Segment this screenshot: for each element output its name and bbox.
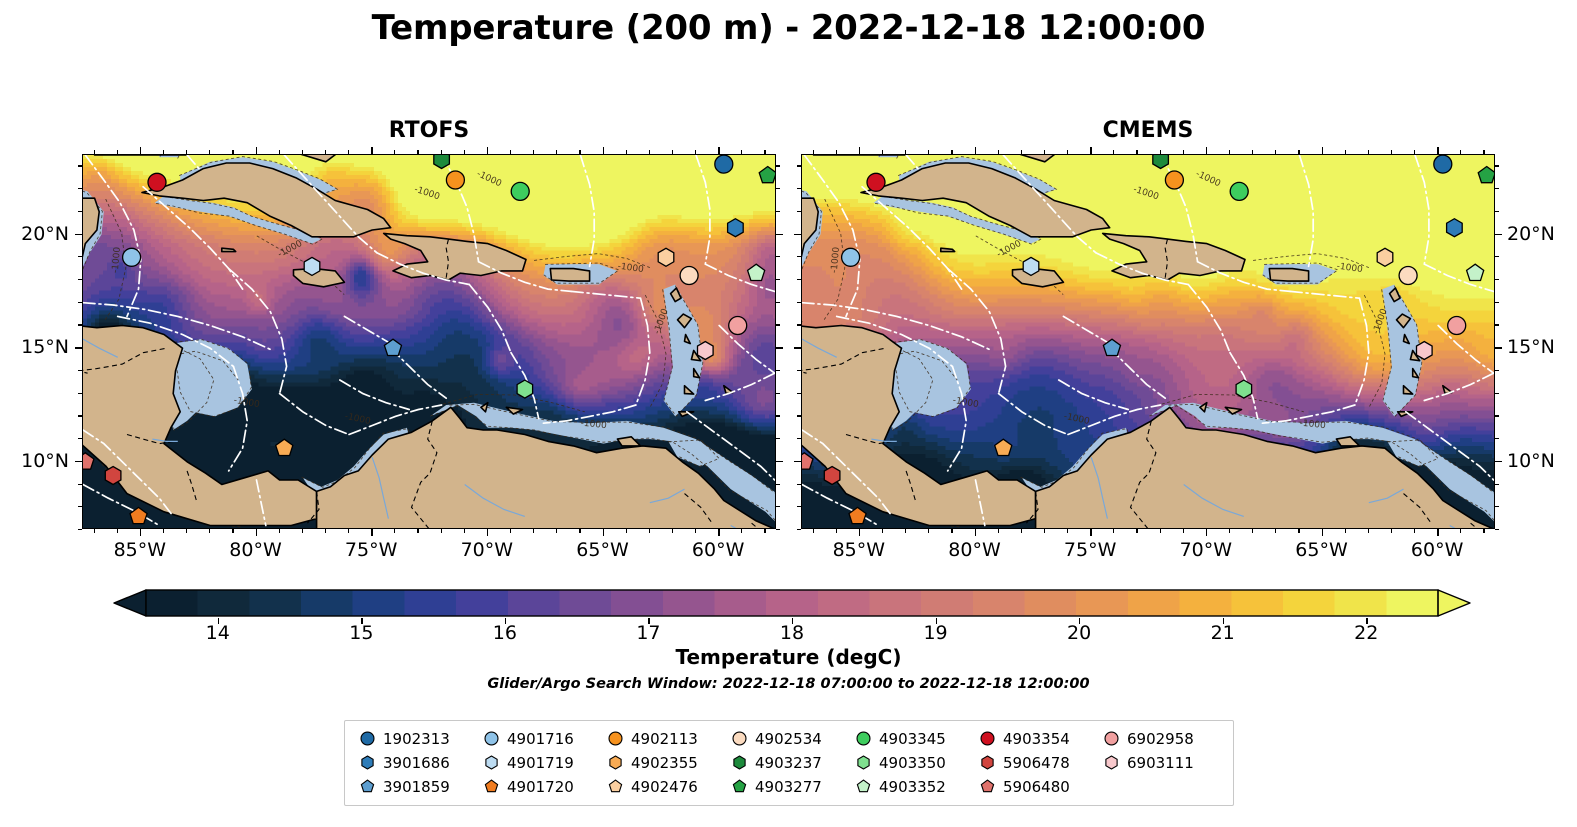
legend-label: 4901720 <box>507 778 574 796</box>
x-major-tick <box>1322 529 1324 536</box>
x-minor-tick <box>1229 150 1230 154</box>
x-minor-tick <box>1275 150 1276 154</box>
y-tick-label: 20°N <box>0 223 69 245</box>
y-minor-tick <box>78 211 82 212</box>
x-tick-label: 70°W <box>461 539 513 561</box>
circle-marker-icon <box>483 730 500 747</box>
x-minor-tick <box>1160 529 1161 533</box>
x-minor-tick <box>672 529 673 533</box>
y-minor-tick <box>797 279 801 280</box>
float-marker <box>1447 219 1463 237</box>
colorbar-tick-label: 14 <box>206 622 230 644</box>
map-frame-rtofs[interactable]: -1000-1000-1000-1000-1000-1000-1000-1000… <box>82 154 776 529</box>
y-minor-tick <box>797 302 801 303</box>
x-minor-tick <box>764 529 765 533</box>
y-tick-label: 15°N <box>1507 336 1577 358</box>
legend-item[interactable]: 4903277 <box>727 776 851 797</box>
x-minor-tick <box>279 529 280 533</box>
float-marker <box>715 155 733 173</box>
circle-marker-icon <box>607 730 624 747</box>
legend-label: 4903350 <box>879 754 946 772</box>
x-minor-tick <box>813 150 814 154</box>
x-major-tick <box>718 147 720 154</box>
x-minor-tick <box>94 529 95 533</box>
float-marker <box>1230 182 1248 200</box>
legend-item[interactable]: 3901859 <box>355 776 479 797</box>
y-minor-tick <box>1495 188 1499 189</box>
map-render-rtofs: -1000-1000-1000-1000-1000-1000-1000-1000… <box>83 155 776 529</box>
legend-item[interactable]: 6903111 <box>1099 752 1223 773</box>
x-minor-tick <box>836 150 837 154</box>
x-major-tick <box>256 529 258 536</box>
x-tick-label: 80°W <box>229 539 281 561</box>
x-tick-label: 60°W <box>692 539 744 561</box>
y-minor-tick <box>776 529 780 530</box>
x-major-tick <box>859 147 861 154</box>
y-minor-tick <box>1495 324 1499 325</box>
y-minor-tick <box>797 415 801 416</box>
x-minor-tick <box>1067 529 1068 533</box>
x-minor-tick <box>417 150 418 154</box>
y-minor-tick <box>797 529 801 530</box>
x-minor-tick <box>348 529 349 533</box>
legend-label: 4901719 <box>507 754 574 772</box>
y-minor-tick <box>797 484 801 485</box>
y-minor-tick <box>1495 415 1499 416</box>
x-minor-tick <box>813 529 814 533</box>
colorbar-tick-label: 21 <box>1211 622 1235 644</box>
legend-item[interactable]: 4902534 <box>727 728 851 749</box>
x-minor-tick <box>928 529 929 533</box>
y-minor-tick <box>776 256 780 257</box>
colorbar-tick-label: 20 <box>1067 622 1091 644</box>
x-minor-tick <box>1391 529 1392 533</box>
float-legend: 1902313390168639018594901716490171949017… <box>344 720 1234 806</box>
x-tick-label: 85°W <box>833 539 885 561</box>
x-minor-tick <box>325 529 326 533</box>
x-tick-label: 70°W <box>1180 539 1232 561</box>
y-minor-tick <box>78 393 82 394</box>
legend-item[interactable]: 4903345 <box>851 728 975 749</box>
float-marker <box>1399 267 1417 285</box>
legend-label: 4903352 <box>879 778 946 796</box>
y-minor-tick <box>1495 484 1499 485</box>
x-minor-tick <box>1368 150 1369 154</box>
colorbar[interactable] <box>112 588 1472 618</box>
legend-label: 4903354 <box>1003 730 1070 748</box>
circle-marker-icon <box>855 730 872 747</box>
circle-marker-icon <box>731 730 748 747</box>
float-marker <box>698 342 714 360</box>
x-minor-tick <box>579 150 580 154</box>
y-minor-tick <box>78 256 82 257</box>
x-major-tick <box>487 529 489 536</box>
x-minor-tick <box>626 529 627 533</box>
x-minor-tick <box>302 150 303 154</box>
x-major-tick <box>140 529 142 536</box>
float-marker <box>729 317 747 335</box>
x-minor-tick <box>649 150 650 154</box>
x-major-tick <box>1090 147 1092 154</box>
hexagon-marker-icon <box>1103 754 1120 771</box>
x-major-tick <box>1206 147 1208 154</box>
y-minor-tick <box>797 324 801 325</box>
legend-label: 4902534 <box>755 730 822 748</box>
x-minor-tick <box>302 529 303 533</box>
y-major-tick <box>1495 347 1502 349</box>
y-minor-tick <box>1495 393 1499 394</box>
y-minor-tick <box>1495 165 1499 166</box>
x-minor-tick <box>672 150 673 154</box>
x-minor-tick <box>117 150 118 154</box>
x-minor-tick <box>951 529 952 533</box>
x-minor-tick <box>1483 529 1484 533</box>
y-minor-tick <box>776 484 780 485</box>
legend-item[interactable]: 5906480 <box>975 776 1099 797</box>
x-minor-tick <box>1183 150 1184 154</box>
y-major-tick <box>75 347 82 349</box>
x-tick-label: 75°W <box>345 539 397 561</box>
float-marker <box>824 467 840 485</box>
legend-label: 6902958 <box>1127 730 1194 748</box>
x-minor-tick <box>348 150 349 154</box>
x-minor-tick <box>695 150 696 154</box>
y-tick-label: 10°N <box>1507 450 1577 472</box>
x-minor-tick <box>510 150 511 154</box>
legend-item[interactable]: 4901716 <box>479 728 603 749</box>
x-minor-tick <box>951 150 952 154</box>
x-major-tick <box>975 147 977 154</box>
x-minor-tick <box>1483 150 1484 154</box>
x-minor-tick <box>764 150 765 154</box>
y-major-tick <box>794 461 801 463</box>
x-minor-tick <box>441 150 442 154</box>
y-minor-tick <box>797 211 801 212</box>
legend-item[interactable]: 4903350 <box>851 752 975 773</box>
float-marker <box>517 380 533 398</box>
x-major-tick <box>1322 147 1324 154</box>
figure-canvas: Temperature (200 m) - 2022-12-18 12:00:0… <box>0 0 1577 827</box>
x-minor-tick <box>1368 529 1369 533</box>
y-minor-tick <box>797 393 801 394</box>
panel-title-cmems: CMEMS <box>801 118 1495 143</box>
y-minor-tick <box>776 324 780 325</box>
map-panel-cmems: CMEMS -1000-1000-1000-1000-1000-1000-100… <box>801 154 1495 529</box>
x-minor-tick <box>1113 529 1114 533</box>
map-frame-cmems[interactable]: -1000-1000-1000-1000-1000-1000-1000-1000… <box>801 154 1495 529</box>
y-major-tick <box>75 461 82 463</box>
legend-item[interactable]: 4903237 <box>727 752 851 773</box>
float-marker <box>658 248 674 266</box>
colorbar-tick-label: 16 <box>493 622 517 644</box>
hexagon-marker-icon <box>855 754 872 771</box>
x-minor-tick <box>1414 150 1415 154</box>
x-minor-tick <box>998 150 999 154</box>
y-minor-tick <box>776 188 780 189</box>
legend-label: 4903345 <box>879 730 946 748</box>
y-major-tick <box>75 234 82 236</box>
x-minor-tick <box>695 529 696 533</box>
y-minor-tick <box>797 188 801 189</box>
circle-marker-icon <box>359 730 376 747</box>
legend-item[interactable]: 4902113 <box>603 728 727 749</box>
x-major-tick <box>975 529 977 536</box>
x-minor-tick <box>464 150 465 154</box>
x-major-tick <box>603 147 605 154</box>
x-minor-tick <box>1252 150 1253 154</box>
y-minor-tick <box>776 415 780 416</box>
x-minor-tick <box>394 529 395 533</box>
x-minor-tick <box>905 150 906 154</box>
y-minor-tick <box>78 529 82 530</box>
map-panel-rtofs: RTOFS -1000-1000-1000-1000-1000-1000-100… <box>82 154 776 529</box>
x-minor-tick <box>649 529 650 533</box>
legend-label: 4903237 <box>755 754 822 772</box>
x-major-tick <box>256 147 258 154</box>
legend-label: 6903111 <box>1127 754 1194 772</box>
float-marker <box>123 248 141 266</box>
x-major-tick <box>1437 147 1439 154</box>
x-minor-tick <box>1345 529 1346 533</box>
x-minor-tick <box>186 150 187 154</box>
x-minor-tick <box>556 529 557 533</box>
hexagon-marker-icon <box>731 754 748 771</box>
y-minor-tick <box>776 211 780 212</box>
colorbar-tick-label: 22 <box>1354 622 1378 644</box>
legend-label: 5906478 <box>1003 754 1070 772</box>
x-minor-tick <box>1298 150 1299 154</box>
legend-label: 3901686 <box>383 754 450 772</box>
y-minor-tick <box>1495 438 1499 439</box>
y-minor-tick <box>797 165 801 166</box>
legend-label: 4902355 <box>631 754 698 772</box>
x-major-tick <box>1090 529 1092 536</box>
y-minor-tick <box>797 506 801 507</box>
y-minor-tick <box>776 302 780 303</box>
float-marker <box>304 257 320 275</box>
y-major-tick <box>794 347 801 349</box>
legend-item[interactable]: 4901719 <box>479 752 603 773</box>
legend-label: 4903277 <box>755 778 822 796</box>
y-minor-tick <box>1495 302 1499 303</box>
colorbar-label: Temperature (degC) <box>0 645 1577 669</box>
y-tick-label: 20°N <box>1507 223 1577 245</box>
x-tick-label: 75°W <box>1064 539 1116 561</box>
y-minor-tick <box>78 370 82 371</box>
circle-marker-icon <box>1103 730 1120 747</box>
x-minor-tick <box>1067 150 1068 154</box>
y-minor-tick <box>78 506 82 507</box>
y-tick-label: 10°N <box>0 450 69 472</box>
x-minor-tick <box>94 150 95 154</box>
legend-item[interactable]: 4903354 <box>975 728 1099 749</box>
x-minor-tick <box>1345 150 1346 154</box>
float-marker <box>1165 171 1183 189</box>
x-major-tick <box>1206 529 1208 536</box>
legend-label: 4902113 <box>631 730 698 748</box>
y-minor-tick <box>1495 529 1499 530</box>
y-major-tick <box>776 461 783 463</box>
y-minor-tick <box>78 484 82 485</box>
x-minor-tick <box>1160 150 1161 154</box>
x-minor-tick <box>209 529 210 533</box>
x-minor-tick <box>1021 150 1022 154</box>
y-minor-tick <box>78 302 82 303</box>
y-tick-label: 15°N <box>0 336 69 358</box>
legend-item[interactable]: 4902476 <box>603 776 727 797</box>
x-minor-tick <box>186 529 187 533</box>
legend-item[interactable]: 1902313 <box>355 728 479 749</box>
colorbar-gradient <box>112 588 1472 618</box>
hexagon-marker-icon <box>979 754 996 771</box>
y-minor-tick <box>78 438 82 439</box>
legend-label: 3901859 <box>383 778 450 796</box>
y-minor-tick <box>797 438 801 439</box>
x-minor-tick <box>394 150 395 154</box>
x-minor-tick <box>163 529 164 533</box>
x-minor-tick <box>1044 529 1045 533</box>
legend-item[interactable]: 3901686 <box>355 752 479 773</box>
float-marker <box>1448 317 1466 335</box>
float-marker <box>511 182 529 200</box>
legend-item[interactable]: 6902958 <box>1099 728 1223 749</box>
x-minor-tick <box>1460 529 1461 533</box>
x-minor-tick <box>1136 150 1137 154</box>
legend-label: 4901716 <box>507 730 574 748</box>
x-minor-tick <box>1252 529 1253 533</box>
legend-item[interactable]: 4903352 <box>851 776 975 797</box>
pentagon-marker-icon <box>483 778 500 795</box>
x-minor-tick <box>533 150 534 154</box>
y-major-tick <box>776 347 783 349</box>
figure-title: Temperature (200 m) - 2022-12-18 12:00:0… <box>0 8 1577 48</box>
float-marker <box>148 173 166 191</box>
pentagon-marker-icon <box>731 778 748 795</box>
x-minor-tick <box>1414 529 1415 533</box>
x-tick-label: 85°W <box>114 539 166 561</box>
map-render-cmems: -1000-1000-1000-1000-1000-1000-1000-1000… <box>802 155 1495 529</box>
x-minor-tick <box>882 150 883 154</box>
x-minor-tick <box>741 529 742 533</box>
colorbar-tick-label: 18 <box>780 622 804 644</box>
x-major-tick <box>371 529 373 536</box>
x-tick-label: 65°W <box>1295 539 1347 561</box>
x-major-tick <box>859 529 861 536</box>
x-minor-tick <box>279 150 280 154</box>
x-minor-tick <box>533 529 534 533</box>
x-minor-tick <box>1460 150 1461 154</box>
x-tick-label: 80°W <box>948 539 1000 561</box>
x-minor-tick <box>905 529 906 533</box>
legend-grid: 1902313390168639018594901716490171949017… <box>355 728 1223 797</box>
legend-label: 1902313 <box>383 730 450 748</box>
x-minor-tick <box>417 529 418 533</box>
float-marker <box>867 173 885 191</box>
panel-title-rtofs: RTOFS <box>82 118 776 143</box>
x-minor-tick <box>209 150 210 154</box>
hexagon-marker-icon <box>483 754 500 771</box>
float-marker <box>680 267 698 285</box>
x-tick-label: 65°W <box>576 539 628 561</box>
x-major-tick <box>371 147 373 154</box>
x-minor-tick <box>882 529 883 533</box>
y-minor-tick <box>776 165 780 166</box>
y-minor-tick <box>776 393 780 394</box>
x-major-tick <box>487 147 489 154</box>
float-marker <box>1434 155 1452 173</box>
x-minor-tick <box>1183 529 1184 533</box>
y-minor-tick <box>1495 279 1499 280</box>
float-marker <box>842 248 860 266</box>
y-major-tick <box>794 234 801 236</box>
y-minor-tick <box>1495 506 1499 507</box>
legend-label: 5906480 <box>1003 778 1070 796</box>
legend-item[interactable]: 4901720 <box>479 776 603 797</box>
circle-marker-icon <box>979 730 996 747</box>
y-minor-tick <box>78 188 82 189</box>
y-minor-tick <box>1495 370 1499 371</box>
hexagon-marker-icon <box>359 754 376 771</box>
x-minor-tick <box>232 529 233 533</box>
x-minor-tick <box>556 150 557 154</box>
x-minor-tick <box>1391 150 1392 154</box>
y-major-tick <box>1495 461 1502 463</box>
x-minor-tick <box>441 529 442 533</box>
x-minor-tick <box>998 529 999 533</box>
hexagon-marker-icon <box>607 754 624 771</box>
y-minor-tick <box>776 438 780 439</box>
colorbar-tick-label: 15 <box>349 622 373 644</box>
y-minor-tick <box>797 256 801 257</box>
pentagon-marker-icon <box>855 778 872 795</box>
x-major-tick <box>140 147 142 154</box>
y-major-tick <box>1495 234 1502 236</box>
x-minor-tick <box>1113 150 1114 154</box>
pentagon-marker-icon <box>607 778 624 795</box>
y-minor-tick <box>78 415 82 416</box>
legend-item[interactable]: 4902355 <box>603 752 727 773</box>
x-minor-tick <box>464 529 465 533</box>
search-window-caption: Glider/Argo Search Window: 2022-12-18 07… <box>0 676 1577 692</box>
x-minor-tick <box>1229 529 1230 533</box>
y-minor-tick <box>78 279 82 280</box>
y-minor-tick <box>1495 211 1499 212</box>
x-minor-tick <box>836 529 837 533</box>
float-marker <box>1236 380 1252 398</box>
x-minor-tick <box>1298 529 1299 533</box>
y-minor-tick <box>776 279 780 280</box>
x-major-tick <box>603 529 605 536</box>
x-minor-tick <box>626 150 627 154</box>
x-major-tick <box>1437 529 1439 536</box>
colorbar-tick-label: 19 <box>923 622 947 644</box>
x-minor-tick <box>510 529 511 533</box>
x-minor-tick <box>1136 529 1137 533</box>
x-minor-tick <box>928 150 929 154</box>
pentagon-marker-icon <box>979 778 996 795</box>
y-minor-tick <box>797 370 801 371</box>
y-major-tick <box>776 234 783 236</box>
x-minor-tick <box>325 150 326 154</box>
pentagon-marker-icon <box>359 778 376 795</box>
y-minor-tick <box>1495 256 1499 257</box>
x-minor-tick <box>163 150 164 154</box>
y-minor-tick <box>78 165 82 166</box>
x-minor-tick <box>1021 529 1022 533</box>
colorbar-tick-label: 17 <box>636 622 660 644</box>
legend-item[interactable]: 5906478 <box>975 752 1099 773</box>
float-marker <box>1023 257 1039 275</box>
